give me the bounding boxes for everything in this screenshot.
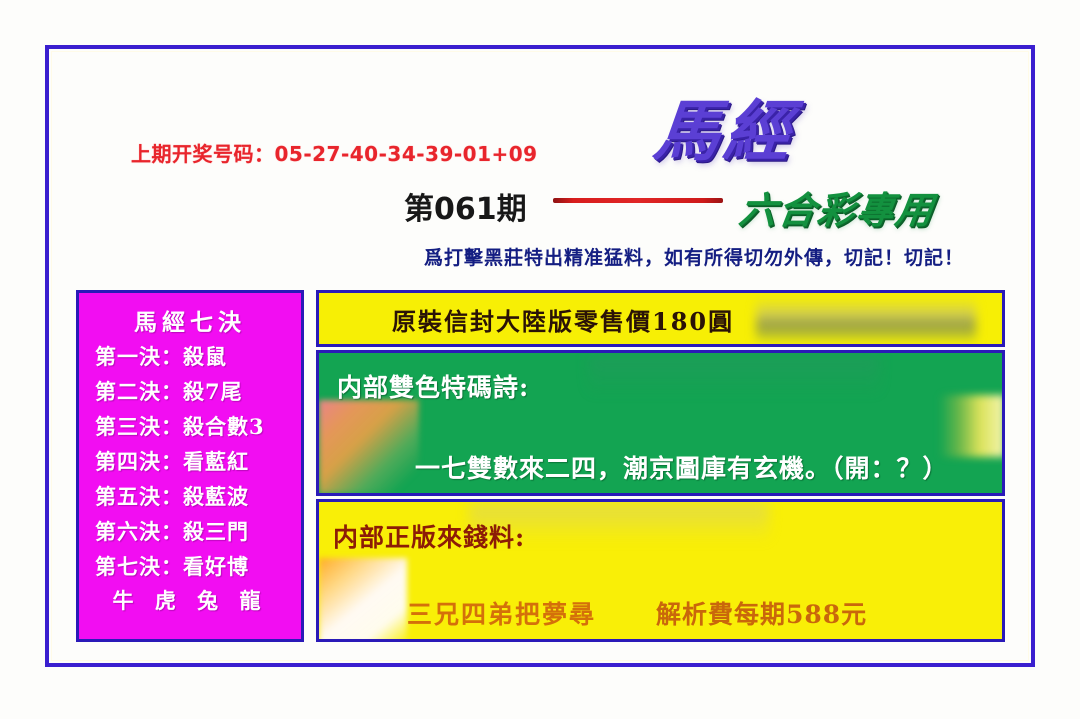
poem-panel-obscured-right-region <box>939 395 1005 457</box>
brand-subtitle-logo: 六合彩專用 <box>736 180 939 234</box>
seven-decisions-title: 馬經七決 <box>79 303 301 337</box>
money-panel-obscured-corner-region <box>319 558 407 642</box>
decision-row-3: 第三決：殺合數3 <box>79 409 301 444</box>
price-banner-panel: 原裝信封大陸版零售價180圓 <box>316 290 1005 347</box>
money-panel-phrase: 三兄四弟把夢尋 <box>407 595 596 631</box>
price-banner-text: 原裝信封大陸版零售價180圓 <box>392 302 734 337</box>
zodiac-footer: 牛 虎 兔 龍 <box>79 584 301 618</box>
issue-number: 第061期 <box>404 184 527 228</box>
money-material-panel: 内部正版來錢料: 三兄四弟把夢尋 解析費每期588元 <box>316 499 1005 642</box>
price-banner-obscured-region <box>756 297 976 343</box>
previous-draw-numbers: 上期开奖号码：05-27-40-34-39-01+09 <box>131 138 538 167</box>
brand-title-logo: 馬經 <box>650 78 800 174</box>
poem-panel-label: 内部雙色特碼詩: <box>337 368 529 404</box>
decision-row-5: 第五決：殺藍波 <box>79 479 301 514</box>
poem-panel-verse: 一七雙數來二四，潮京圖庫有玄機。（開：？） <box>415 449 949 485</box>
special-code-poem-panel: 内部雙色特碼詩: 一七雙數來二四，潮京圖庫有玄機。（開：？） <box>316 350 1005 496</box>
decision-row-1: 第一決：殺鼠 <box>79 339 301 374</box>
money-panel-label: 内部正版來錢料: <box>333 518 525 554</box>
tagline-text: 爲打擊黑莊特出精准猛料，如有所得切勿外傳，切記！切記！ <box>424 243 964 270</box>
poster-page: 上期开奖号码：05-27-40-34-39-01+09 第061期 馬經 六合彩… <box>0 0 1080 719</box>
money-panel-fee: 解析費每期588元 <box>656 595 867 631</box>
decision-row-7: 第七決：看好博 <box>79 549 301 584</box>
decision-row-4: 第四決：看藍紅 <box>79 444 301 479</box>
issue-divider-rule <box>553 198 723 203</box>
poem-panel-obscured-top-region <box>589 355 879 395</box>
right-panel-column: 原裝信封大陸版零售價180圓 内部雙色特碼詩: 一七雙數來二四，潮京圖庫有玄機。… <box>316 290 1005 642</box>
seven-decisions-panel: 馬經七決 第一決：殺鼠 第二決：殺7尾 第三決：殺合數3 第四決：看藍紅 第五決… <box>76 290 304 642</box>
poem-panel-obscured-left-region <box>319 400 419 494</box>
decision-row-2: 第二決：殺7尾 <box>79 374 301 409</box>
decision-row-6: 第六決：殺三門 <box>79 514 301 549</box>
